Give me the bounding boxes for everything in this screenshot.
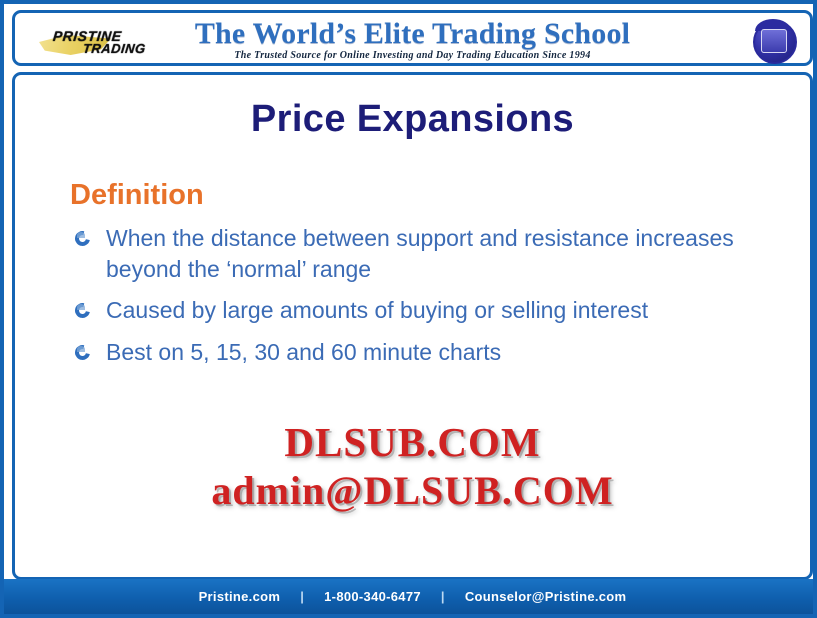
- footer-email[interactable]: Counselor@Pristine.com: [465, 589, 627, 604]
- footer-contact-bar: Pristine.com | 1-800-340-6477 | Counselo…: [199, 589, 627, 604]
- footer-phone[interactable]: 1-800-340-6477: [324, 589, 421, 604]
- page-title: Price Expansions: [15, 98, 810, 141]
- list-item-label: When the distance between support and re…: [106, 223, 746, 284]
- crescent-bullet-icon: [75, 303, 90, 318]
- list-item-label: Best on 5, 15, 30 and 60 minute charts: [106, 337, 501, 368]
- footer-separator: |: [421, 589, 465, 604]
- list-item: Best on 5, 15, 30 and 60 minute charts: [70, 337, 770, 368]
- seal-inner-shield: [761, 29, 787, 53]
- footer-website[interactable]: Pristine.com: [199, 589, 281, 604]
- footer-separator: |: [280, 589, 324, 604]
- slide-header: PRISTINE TRADING The World’s Elite Tradi…: [12, 10, 813, 66]
- watermark-site: DLSUB.COM: [15, 417, 810, 467]
- list-item: Caused by large amounts of buying or sel…: [70, 295, 770, 326]
- seal-badge-icon: [750, 17, 796, 63]
- header-subtitle: The Trusted Source for Online Investing …: [15, 50, 810, 61]
- list-item: When the distance between support and re…: [70, 223, 770, 284]
- list-item-label: Caused by large amounts of buying or sel…: [106, 295, 648, 326]
- slide-body: Price Expansions Definition When the dis…: [12, 72, 813, 580]
- crescent-bullet-icon: [75, 231, 90, 246]
- watermark-email: admin@DLSUB.COM: [15, 467, 810, 516]
- header-title: The World’s Elite Trading School: [15, 17, 810, 51]
- slide-frame: PRISTINE TRADING The World’s Elite Tradi…: [0, 0, 817, 618]
- section-heading-definition: Definition: [70, 179, 204, 212]
- watermark-overlay: DLSUB.COM admin@DLSUB.COM: [15, 417, 810, 516]
- slide-footer: Pristine.com | 1-800-340-6477 | Counselo…: [4, 579, 817, 614]
- crescent-bullet-icon: [75, 345, 90, 360]
- bullet-list: When the distance between support and re…: [70, 223, 770, 378]
